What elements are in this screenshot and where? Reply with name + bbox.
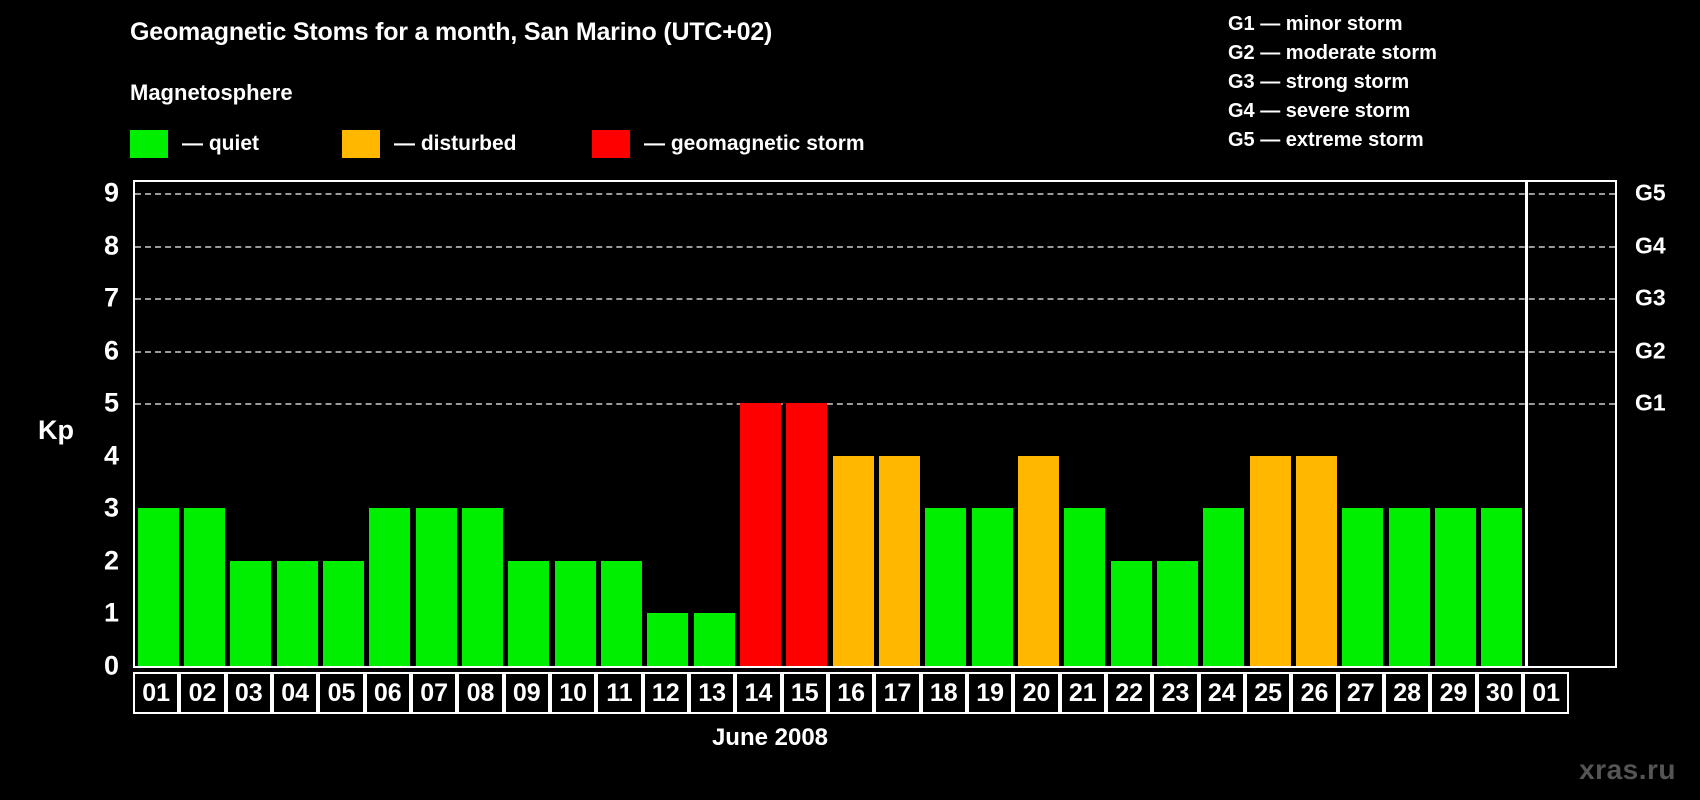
day-label-22: 23 <box>1152 672 1198 714</box>
legend-label: — disturbed <box>394 132 517 156</box>
bar-day-24 <box>1203 508 1244 666</box>
chart-page: Geomagnetic Stoms for a month, San Marin… <box>0 0 1700 800</box>
bar-day-13 <box>694 613 735 666</box>
plot-area <box>133 180 1617 668</box>
legend-item-0: — quiet <box>130 130 259 158</box>
y-tick-label-3: 3 <box>73 493 119 524</box>
bar-series <box>135 182 1615 666</box>
day-label-6: 07 <box>411 672 457 714</box>
storm-scale-row-4: G4 — severe storm <box>1228 97 1437 126</box>
bar-day-29 <box>1435 508 1476 666</box>
legend-item-1: — disturbed <box>342 130 517 158</box>
day-label-21: 22 <box>1106 672 1152 714</box>
magnetosphere-label: Magnetosphere <box>130 80 293 106</box>
bar-day-11 <box>601 561 642 666</box>
y-tick-label-2: 2 <box>73 545 119 576</box>
legend-swatch-icon <box>130 130 168 158</box>
day-label-18: 19 <box>967 672 1013 714</box>
bar-day-28 <box>1389 508 1430 666</box>
day-label-5: 06 <box>365 672 411 714</box>
y-axis-title: Kp <box>38 415 74 446</box>
bar-day-17 <box>879 456 920 666</box>
day-label-16: 17 <box>874 672 920 714</box>
bar-day-10 <box>555 561 596 666</box>
day-label-0: 01 <box>133 672 179 714</box>
bar-day-12 <box>647 613 688 666</box>
day-label-2: 03 <box>226 672 272 714</box>
y-tick-label-5: 5 <box>73 388 119 419</box>
y-tick-label-4: 4 <box>73 440 119 471</box>
storm-scale-row-2: G2 — moderate storm <box>1228 39 1437 68</box>
legend-swatch-icon <box>342 130 380 158</box>
g-tick-label-G5: G5 <box>1635 180 1666 207</box>
g-tick-label-G1: G1 <box>1635 390 1666 417</box>
bar-day-20 <box>1018 456 1059 666</box>
storm-scale-legend: G1 — minor stormG2 — moderate stormG3 — … <box>1228 10 1437 155</box>
watermark: xras.ru <box>1579 754 1676 786</box>
bar-day-16 <box>833 456 874 666</box>
day-label-10: 11 <box>596 672 642 714</box>
bar-day-06 <box>369 508 410 666</box>
y-tick-label-7: 7 <box>73 283 119 314</box>
y-tick-label-9: 9 <box>73 178 119 209</box>
day-label-23: 24 <box>1199 672 1245 714</box>
storm-scale-row-3: G3 — strong storm <box>1228 68 1437 97</box>
x-axis-caption: June 2008 <box>0 724 1700 752</box>
bar-day-03 <box>230 561 271 666</box>
bar-day-23 <box>1157 561 1198 666</box>
bar-day-02 <box>184 508 225 666</box>
bar-day-09 <box>508 561 549 666</box>
g-tick-label-G4: G4 <box>1635 232 1666 259</box>
bar-day-26 <box>1296 456 1337 666</box>
month-separator-line <box>1525 182 1528 666</box>
legend-label: — geomagnetic storm <box>644 132 865 156</box>
g-tick-label-G2: G2 <box>1635 337 1666 364</box>
y-tick-label-6: 6 <box>73 335 119 366</box>
bar-day-15 <box>786 403 827 666</box>
day-label-11: 12 <box>643 672 689 714</box>
day-label-8: 09 <box>504 672 550 714</box>
legend-swatch-icon <box>592 130 630 158</box>
day-label-19: 20 <box>1013 672 1059 714</box>
day-label-4: 05 <box>318 672 364 714</box>
bar-day-21 <box>1064 508 1105 666</box>
day-label-12: 13 <box>689 672 735 714</box>
bar-day-19 <box>972 508 1013 666</box>
bar-day-25 <box>1250 456 1291 666</box>
day-label-24: 25 <box>1245 672 1291 714</box>
bar-day-05 <box>323 561 364 666</box>
day-label-25: 26 <box>1291 672 1337 714</box>
bar-day-01 <box>138 508 179 666</box>
legend-label: — quiet <box>182 132 259 156</box>
day-label-29: 30 <box>1477 672 1523 714</box>
day-label-3: 04 <box>272 672 318 714</box>
bar-day-08 <box>462 508 503 666</box>
g-tick-label-G3: G3 <box>1635 285 1666 312</box>
y-tick-label-8: 8 <box>73 230 119 261</box>
day-label-28: 29 <box>1430 672 1476 714</box>
day-label-27: 28 <box>1384 672 1430 714</box>
bar-day-27 <box>1342 508 1383 666</box>
bar-day-18 <box>925 508 966 666</box>
x-axis-caption-text: June 2008 <box>712 724 828 751</box>
storm-scale-row-1: G1 — minor storm <box>1228 10 1437 39</box>
day-label-14: 15 <box>782 672 828 714</box>
y-tick-label-0: 0 <box>73 651 119 682</box>
storm-scale-row-5: G5 — extreme storm <box>1228 126 1437 155</box>
day-label-9: 10 <box>550 672 596 714</box>
bar-day-22 <box>1111 561 1152 666</box>
day-label-13: 14 <box>735 672 781 714</box>
day-label-17: 18 <box>921 672 967 714</box>
day-label-7: 08 <box>457 672 503 714</box>
page-title: Geomagnetic Stoms for a month, San Marin… <box>130 18 772 47</box>
day-label-15: 16 <box>828 672 874 714</box>
y-tick-label-1: 1 <box>73 598 119 629</box>
day-label-26: 27 <box>1338 672 1384 714</box>
day-label-1: 02 <box>179 672 225 714</box>
bar-day-04 <box>277 561 318 666</box>
bar-day-30 <box>1481 508 1522 666</box>
day-label-20: 21 <box>1060 672 1106 714</box>
day-label-30: 01 <box>1523 672 1569 714</box>
legend-item-2: — geomagnetic storm <box>592 130 865 158</box>
bar-day-14 <box>740 403 781 666</box>
bar-day-07 <box>416 508 457 666</box>
